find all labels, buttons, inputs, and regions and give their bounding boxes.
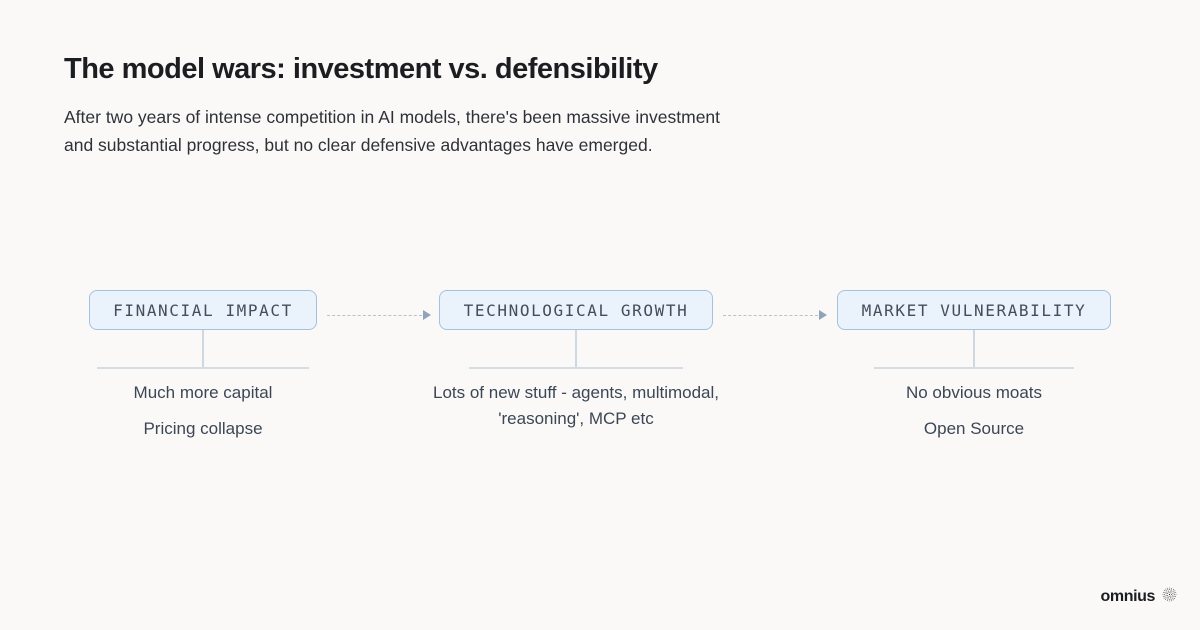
logo-text: omnius (1101, 588, 1156, 606)
starburst-dots-icon (1161, 586, 1178, 608)
node-rule (469, 367, 683, 369)
node-label: MARKET VULNERABILITY (862, 301, 1087, 320)
node-box-market-vulnerability[interactable]: MARKET VULNERABILITY (837, 290, 1111, 330)
node-rule (874, 367, 1074, 369)
page-subtitle: After two years of intense competition i… (64, 103, 724, 159)
node-label: TECHNOLOGICAL GROWTH (464, 301, 689, 320)
page-title: The model wars: investment vs. defensibi… (64, 52, 764, 87)
node-stem (202, 330, 204, 368)
flow-diagram: FINANCIAL IMPACT Much more capital Prici… (0, 290, 1200, 490)
detail-line: No obvious moats (837, 380, 1111, 406)
node-stem (575, 330, 577, 368)
arrowhead-icon (423, 310, 431, 320)
node-box-technological-growth[interactable]: TECHNOLOGICAL GROWTH (439, 290, 713, 330)
omnius-logo: omnius (1101, 586, 1179, 608)
connector-arrow-1 (327, 309, 431, 321)
connector-dashed-line (723, 315, 818, 316)
connector-arrow-2 (723, 309, 827, 321)
connector-dashed-line (327, 315, 422, 316)
node-stem (973, 330, 975, 368)
detail-line: Pricing collapse (89, 416, 317, 442)
node-box-financial-impact[interactable]: FINANCIAL IMPACT (89, 290, 317, 330)
node-details-financial-impact: Much more capital Pricing collapse (89, 380, 317, 442)
node-label: FINANCIAL IMPACT (113, 301, 293, 320)
header: The model wars: investment vs. defensibi… (64, 52, 764, 159)
arrowhead-icon (819, 310, 827, 320)
node-details-technological-growth: Lots of new stuff - agents, multimodal, … (432, 380, 720, 432)
detail-line: Open Source (837, 416, 1111, 442)
node-group-technological-growth: TECHNOLOGICAL GROWTH Lots of new stuff -… (439, 290, 713, 330)
node-details-market-vulnerability: No obvious moats Open Source (837, 380, 1111, 442)
detail-line: Much more capital (89, 380, 317, 406)
node-group-financial-impact: FINANCIAL IMPACT Much more capital Prici… (89, 290, 317, 330)
node-rule (97, 367, 309, 369)
detail-line: Lots of new stuff - agents, multimodal, … (432, 380, 720, 432)
node-group-market-vulnerability: MARKET VULNERABILITY No obvious moats Op… (837, 290, 1111, 330)
